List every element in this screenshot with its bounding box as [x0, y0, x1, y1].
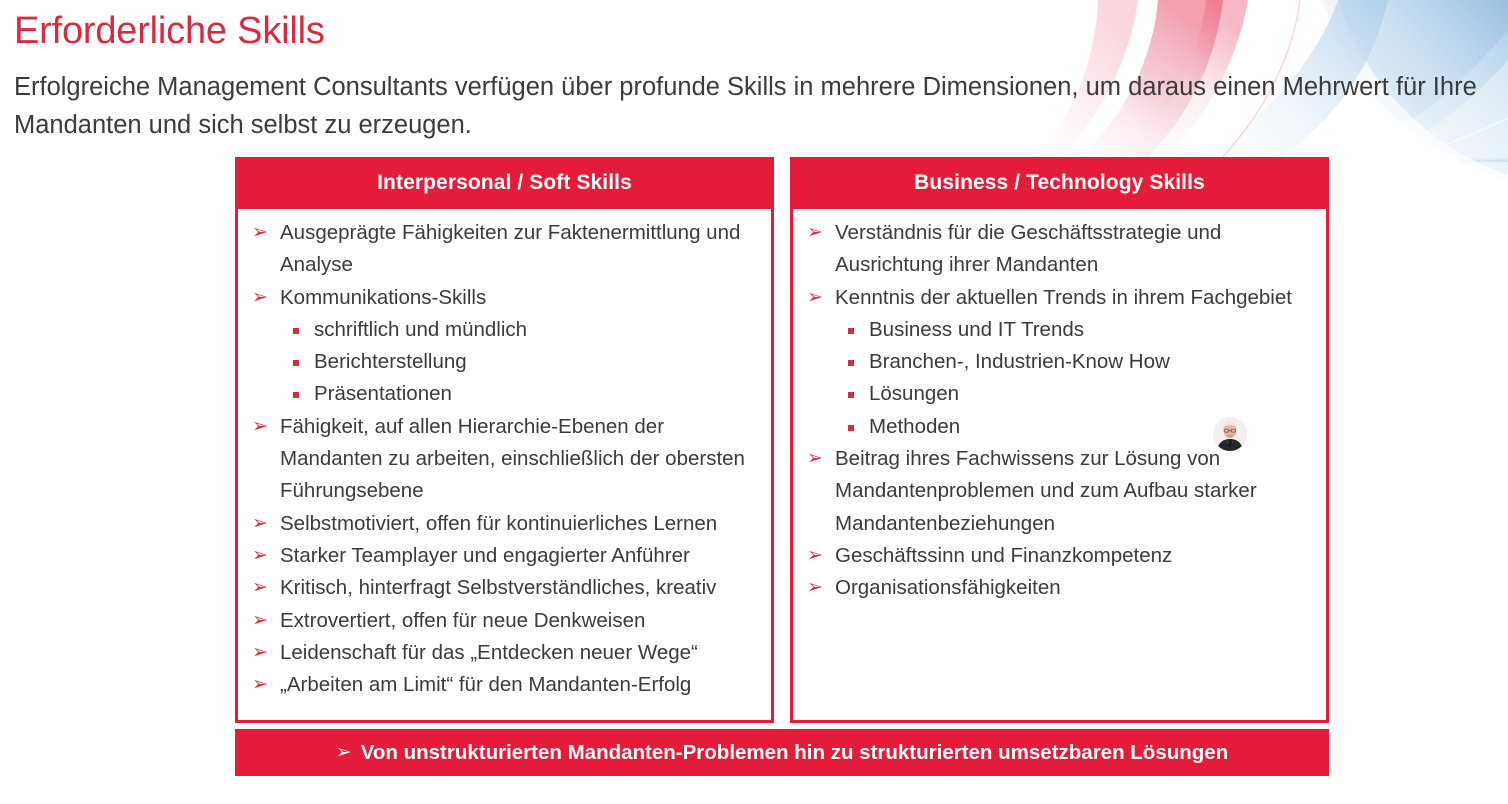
bullet-item-label: Organisationsfähigkeiten — [835, 576, 1061, 599]
arrow-bullet-icon: ➢ — [252, 669, 268, 701]
arrow-bullet-icon: ➢ — [807, 443, 823, 475]
portrait-photo-avatar — [1213, 417, 1247, 451]
bullet-item-label: Branchen-, Industrien-Know How — [869, 350, 1170, 373]
bullet-list-business: ➢Verständnis für die Geschäftsstrategie … — [801, 217, 1316, 605]
skills-panels: Interpersonal / Soft Skills ➢Ausgeprägte… — [235, 157, 1329, 723]
panel-header-interpersonal: Interpersonal / Soft Skills — [235, 157, 774, 209]
bullet-item-level2: Präsentationen — [246, 378, 761, 410]
bullet-item-label: Geschäftssinn und Finanzkompetenz — [835, 544, 1172, 567]
bullet-item-level1: ➢Leidenschaft für das „Entdecken neuer W… — [246, 637, 761, 669]
avatar-icon — [1213, 417, 1247, 451]
bullet-item-label: Verständnis für die Geschäftsstrategie u… — [835, 221, 1221, 276]
square-bullet-icon — [293, 328, 299, 334]
panel-business-technology-skills: Business / Technology Skills ➢Verständni… — [790, 157, 1329, 723]
bullet-item-level1: ➢Ausgeprägte Fähigkeiten zur Faktenermit… — [246, 217, 761, 282]
bullet-item-label: Kommunikations-Skills — [280, 286, 486, 309]
bullet-item-level1: ➢Selbstmotiviert, offen für kontinuierli… — [246, 508, 761, 540]
bullet-item-level2: Lösungen — [801, 378, 1316, 410]
bullet-item-label: Selbstmotiviert, offen für kontinuierlic… — [280, 512, 717, 535]
arrow-bullet-icon: ➢ — [252, 411, 268, 443]
arrow-bullet-icon: ➢ — [252, 605, 268, 637]
bullet-item-label: Fähigkeit, auf allen Hierarchie-Ebenen d… — [280, 415, 745, 503]
panel-body-business: ➢Verständnis für die Geschäftsstrategie … — [790, 209, 1329, 723]
square-bullet-icon — [848, 392, 854, 398]
panel-interpersonal-soft-skills: Interpersonal / Soft Skills ➢Ausgeprägte… — [235, 157, 774, 723]
bullet-item-level1: ➢Kenntnis der aktuellen Trends in ihrem … — [801, 282, 1316, 314]
square-bullet-icon — [848, 328, 854, 334]
panel-body-interpersonal: ➢Ausgeprägte Fähigkeiten zur Faktenermit… — [235, 209, 774, 723]
bullet-item-level1: ➢Fähigkeit, auf allen Hierarchie-Ebenen … — [246, 411, 761, 508]
bullet-item-level1: ➢Starker Teamplayer und engagierter Anfü… — [246, 540, 761, 572]
bullet-item-label: Leidenschaft für das „Entdecken neuer We… — [280, 641, 698, 664]
bullet-item-level1: ➢„Arbeiten am Limit“ für den Mandanten-E… — [246, 669, 761, 701]
bullet-item-label: Ausgeprägte Fähigkeiten zur Faktenermitt… — [280, 221, 740, 276]
arrow-bullet-icon: ➢ — [807, 572, 823, 604]
bullet-item-label: Extrovertiert, offen für neue Denkweisen — [280, 609, 645, 632]
bullet-item-label: Starker Teamplayer und engagierter Anfüh… — [280, 544, 690, 567]
arrow-bullet-icon: ➢ — [807, 217, 823, 249]
bullet-item-label: Lösungen — [869, 382, 959, 405]
bullet-item-level1: ➢Organisationsfähigkeiten — [801, 572, 1316, 604]
arrow-bullet-icon: ➢ — [252, 572, 268, 604]
arrow-bullet-icon: ➢ — [336, 741, 352, 764]
square-bullet-icon — [293, 360, 299, 366]
arrow-bullet-icon: ➢ — [252, 637, 268, 669]
bullet-item-label: Präsentationen — [314, 382, 452, 405]
bullet-item-level1: ➢Geschäftssinn und Finanzkompetenz — [801, 540, 1316, 572]
bullet-item-level2: Berichterstellung — [246, 346, 761, 378]
arrow-bullet-icon: ➢ — [252, 217, 268, 249]
bullet-item-level2: schriftlich und mündlich — [246, 314, 761, 346]
bullet-item-level1: ➢Extrovertiert, offen für neue Denkweise… — [246, 605, 761, 637]
footer-text: Von unstrukturierten Mandanten-Problemen… — [361, 741, 1229, 765]
bullet-item-level1: ➢Kommunikations-Skills — [246, 282, 761, 314]
arrow-bullet-icon: ➢ — [252, 508, 268, 540]
square-bullet-icon — [848, 425, 854, 431]
bullet-item-label: Methoden — [869, 415, 960, 438]
arrow-bullet-icon: ➢ — [807, 540, 823, 572]
arrow-bullet-icon: ➢ — [252, 540, 268, 572]
bullet-item-level1: ➢Verständnis für die Geschäftsstrategie … — [801, 217, 1316, 282]
bullet-item-label: Kritisch, hinterfragt Selbstverständlich… — [280, 576, 716, 599]
bullet-item-label: „Arbeiten am Limit“ für den Mandanten-Er… — [280, 673, 691, 696]
bullet-list-interpersonal: ➢Ausgeprägte Fähigkeiten zur Faktenermit… — [246, 217, 761, 701]
arrow-bullet-icon: ➢ — [807, 282, 823, 314]
arrow-bullet-icon: ➢ — [252, 282, 268, 314]
bullet-item-level1: ➢Beitrag ihres Fachwissens zur Lösung vo… — [801, 443, 1316, 540]
footer-banner: ➢ Von unstrukturierten Mandanten-Problem… — [235, 729, 1329, 776]
page-subtitle: Erfolgreiche Management Consultants verf… — [14, 68, 1492, 144]
bullet-item-label: schriftlich und mündlich — [314, 318, 527, 341]
bullet-item-level2: Branchen-, Industrien-Know How — [801, 346, 1316, 378]
bullet-item-label: Berichterstellung — [314, 350, 467, 373]
bullet-item-label: Beitrag ihres Fachwissens zur Lösung von… — [835, 447, 1257, 535]
square-bullet-icon — [293, 392, 299, 398]
bullet-item-level2: Business und IT Trends — [801, 314, 1316, 346]
slide-canvas: Erforderliche Skills Erfolgreiche Manage… — [0, 0, 1508, 804]
square-bullet-icon — [848, 360, 854, 366]
bullet-item-level1: ➢Kritisch, hinterfragt Selbstverständlic… — [246, 572, 761, 604]
bullet-item-label: Kenntnis der aktuellen Trends in ihrem F… — [835, 286, 1292, 309]
page-title: Erforderliche Skills — [14, 8, 325, 54]
bullet-item-label: Business und IT Trends — [869, 318, 1084, 341]
panel-header-business: Business / Technology Skills — [790, 157, 1329, 209]
